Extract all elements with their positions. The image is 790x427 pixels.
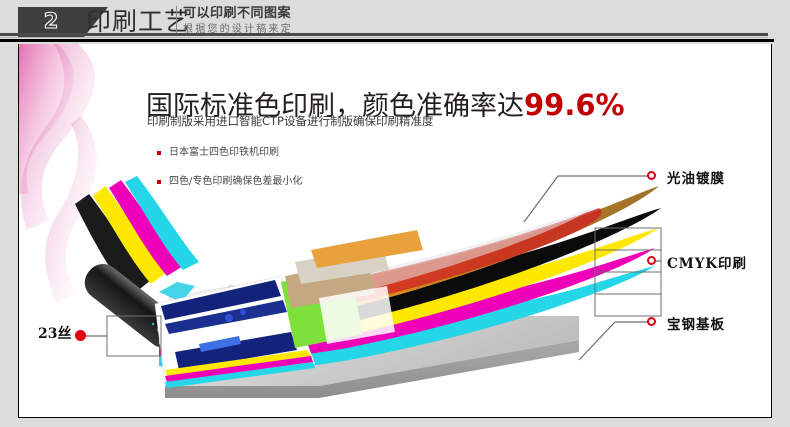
callout-label-varnish: 光油镀膜 xyxy=(667,167,725,187)
page-root: 2 印刷工艺 可以印刷不同图案 根据您的设计稿来定 xyxy=(0,0,790,427)
list-item: 四色/专色印刷确保色差最小化 xyxy=(157,175,302,189)
list-item: 日本富士四色印铁机印刷 xyxy=(157,146,302,160)
content-panel: 国际标准色印刷，颜色准确率达99.6% 印刷制版采用进口智能CTP设备进行制版确… xyxy=(18,44,772,418)
header-rule-light xyxy=(0,37,768,38)
cmyk-marker-icon xyxy=(647,256,656,265)
page-subheadline: 印刷制版采用进口智能CTP设备进行制版确保印刷精准度 xyxy=(147,113,434,129)
varnish-marker-icon xyxy=(647,171,656,180)
callout-label-substrate: 宝钢基板 xyxy=(667,313,725,333)
header-divider xyxy=(176,6,177,36)
header-rule-thick xyxy=(0,33,768,36)
headline-accuracy-value: 99.6% xyxy=(524,88,625,122)
header-rule-black xyxy=(0,39,774,42)
header-subtitle-primary: 可以印刷不同图案 xyxy=(183,6,291,22)
callout-label-thickness: 23丝 xyxy=(38,323,71,343)
substrate-marker-icon xyxy=(647,317,656,326)
section-header: 2 印刷工艺 可以印刷不同图案 根据您的设计稿来定 xyxy=(0,0,790,44)
thickness-marker-icon xyxy=(75,330,86,341)
feature-bullet-list: 日本富士四色印铁机印刷 四色/专色印刷确保色差最小化 xyxy=(157,146,302,204)
callout-label-cmyk: CMYK印刷 xyxy=(667,252,747,272)
section-number-label: 2 xyxy=(18,6,84,36)
